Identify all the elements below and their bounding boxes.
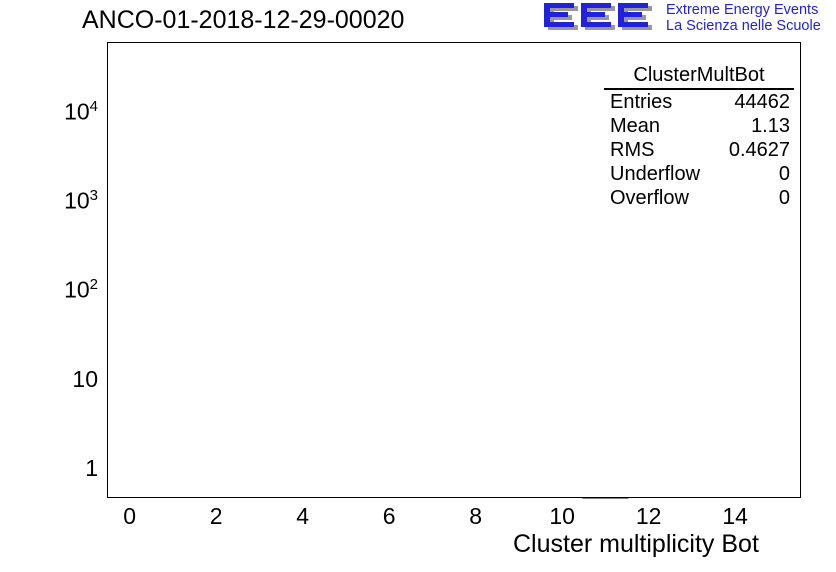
- x-tick-label: 6: [349, 503, 429, 530]
- stats-row-value: 0: [779, 186, 790, 210]
- stats-box: ClusterMultBot Entries44462Mean1.13RMS0.…: [604, 64, 794, 202]
- y-tick-label: 103: [0, 187, 98, 215]
- x-tick-label: 2: [176, 503, 256, 530]
- x-axis-title: Cluster multiplicity Bot: [513, 530, 759, 559]
- stats-row-label: Overflow: [610, 186, 689, 210]
- stats-row-value: 44462: [734, 90, 790, 114]
- stats-row-value: 1.13: [751, 114, 790, 138]
- stats-row-label: Entries: [610, 90, 672, 114]
- y-tick-label: 1: [0, 455, 98, 482]
- stats-row: Mean1.13: [604, 114, 794, 138]
- stats-row: Underflow0: [604, 162, 794, 186]
- x-tick-label: 0: [90, 503, 170, 530]
- stats-row-label: Mean: [610, 114, 660, 138]
- stats-row: Overflow0: [604, 186, 794, 210]
- stats-row: RMS0.4627: [604, 138, 794, 162]
- x-tick-label: 14: [695, 503, 775, 530]
- stats-row-label: Underflow: [610, 162, 700, 186]
- y-tick-label: 104: [0, 98, 98, 126]
- y-tick-label: 10: [0, 366, 98, 393]
- stats-row-label: RMS: [610, 138, 654, 162]
- x-tick-label: 8: [436, 503, 516, 530]
- stats-title: ClusterMultBot: [604, 64, 794, 90]
- x-tick-label: 12: [609, 503, 689, 530]
- x-tick-label: 4: [263, 503, 343, 530]
- stats-row-value: 0: [779, 162, 790, 186]
- stats-row: Entries44462: [604, 90, 794, 114]
- x-tick-label: 10: [522, 503, 602, 530]
- stats-row-value: 0.4627: [729, 138, 790, 162]
- y-tick-label: 102: [0, 276, 98, 304]
